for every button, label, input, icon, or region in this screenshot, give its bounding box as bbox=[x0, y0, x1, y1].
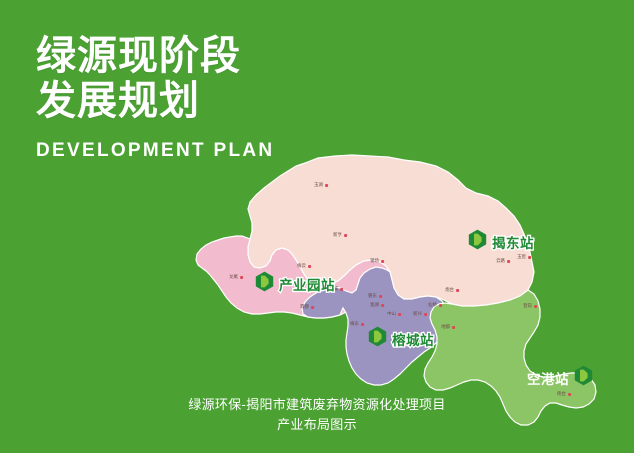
city-marker: 地都 bbox=[441, 324, 455, 330]
city-marker: 霖磐 bbox=[300, 304, 314, 310]
caption-line-1: 绿源环保-揭阳市建筑废弃物资源化处理项目 bbox=[0, 395, 634, 415]
city-dot-icon bbox=[325, 184, 328, 187]
lvyuan-logo-icon bbox=[574, 365, 593, 391]
poster-root: 玉湖 新亨 锡场 梅云 白塔 月城 龙尾 霖磐 磐东 渔湖 中山 新兴 仙桥 梅… bbox=[0, 0, 634, 453]
city-dot-icon bbox=[381, 260, 384, 263]
city-dot-icon bbox=[507, 260, 510, 263]
city-dot-icon bbox=[344, 234, 347, 237]
city-marker: 登岗 bbox=[523, 303, 537, 309]
city-label: 磐东 bbox=[368, 293, 377, 299]
city-label: 霖磐 bbox=[300, 304, 309, 310]
city-label: 地都 bbox=[441, 324, 450, 330]
caption-block: 绿源环保-揭阳市建筑废弃物资源化处理项目 产业布局图示 bbox=[0, 395, 634, 435]
city-marker: 新兴 bbox=[413, 311, 427, 317]
city-label: 新亨 bbox=[333, 232, 342, 238]
station-marker-jiedong[interactable]: 揭东站 bbox=[468, 229, 534, 255]
title-block: 绿源现阶段 发展规划 DEVELOPMENT PLAN bbox=[36, 34, 336, 162]
city-label: 梅云 bbox=[297, 263, 306, 269]
lvyuan-logo-icon bbox=[468, 229, 487, 255]
city-label: 龙尾 bbox=[229, 274, 238, 280]
city-dot-icon bbox=[398, 313, 401, 316]
city-dot-icon bbox=[381, 304, 384, 307]
city-dot-icon bbox=[452, 326, 455, 329]
station-marker-rongcheng[interactable]: 榕城站 bbox=[368, 326, 434, 352]
city-marker: 云路 bbox=[496, 258, 510, 264]
station-label: 空港站 bbox=[527, 368, 569, 388]
page-title-line-1: 绿源现阶段 bbox=[36, 34, 336, 79]
city-marker: 玉湖 bbox=[314, 182, 328, 188]
city-label: 炮台 bbox=[445, 287, 454, 293]
city-label: 新兴 bbox=[413, 311, 422, 317]
city-dot-icon bbox=[534, 305, 537, 308]
city-label: 梅东 bbox=[350, 321, 359, 327]
city-marker: 锡场 bbox=[370, 258, 384, 264]
lvyuan-logo-icon bbox=[255, 271, 274, 297]
city-label: 云路 bbox=[496, 258, 505, 264]
city-marker: 仙桥 bbox=[428, 302, 442, 308]
city-label: 锡场 bbox=[370, 258, 379, 264]
city-marker: 炮台 bbox=[445, 287, 459, 293]
city-dot-icon bbox=[456, 289, 459, 292]
city-dot-icon bbox=[379, 295, 382, 298]
station-label: 榕城站 bbox=[392, 329, 434, 349]
city-dot-icon bbox=[311, 306, 314, 309]
city-marker: 磐东 bbox=[368, 293, 382, 299]
city-marker: 梅东 bbox=[350, 321, 364, 327]
city-marker: 渔湖 bbox=[370, 302, 384, 308]
page-title-line-2: 发展规划 bbox=[36, 79, 336, 124]
city-dot-icon bbox=[528, 256, 531, 259]
city-marker: 龙尾 bbox=[229, 274, 243, 280]
city-label: 仙桥 bbox=[428, 302, 437, 308]
city-dot-icon bbox=[439, 304, 442, 307]
page-subtitle: DEVELOPMENT PLAN bbox=[36, 140, 336, 162]
city-marker: 梅云 bbox=[297, 263, 311, 269]
station-label: 揭东站 bbox=[492, 232, 534, 252]
city-dot-icon bbox=[340, 288, 343, 291]
caption-line-2: 产业布局图示 bbox=[0, 415, 634, 435]
city-dot-icon bbox=[361, 323, 364, 326]
city-label: 玉湖 bbox=[314, 182, 323, 188]
city-dot-icon bbox=[308, 265, 311, 268]
station-marker-chanyeyuan[interactable]: 产业园站 bbox=[255, 271, 335, 297]
city-marker: 新亨 bbox=[333, 232, 347, 238]
lvyuan-logo-icon bbox=[368, 326, 387, 352]
city-label: 登岗 bbox=[523, 303, 532, 309]
station-label: 产业园站 bbox=[279, 274, 335, 294]
city-label: 中山 bbox=[387, 311, 396, 317]
city-dot-icon bbox=[240, 276, 243, 279]
city-label: 渔湖 bbox=[370, 302, 379, 308]
city-dot-icon bbox=[424, 313, 427, 316]
city-marker: 中山 bbox=[387, 311, 401, 317]
station-marker-konggang[interactable]: 空港站 bbox=[527, 365, 593, 391]
